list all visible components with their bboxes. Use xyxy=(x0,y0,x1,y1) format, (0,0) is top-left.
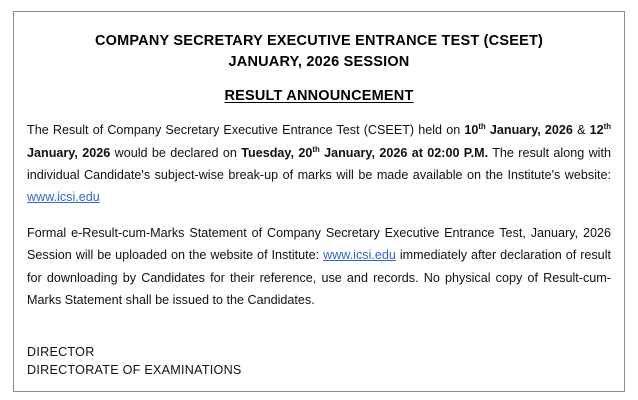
para1-segment-3: would be declared on xyxy=(110,146,241,160)
para1-exam-date-2-rest: January, 2026 xyxy=(27,146,110,160)
para1-declaration-ordinal: th xyxy=(312,144,319,153)
document-title-line-2: JANUARY, 2026 SESSION xyxy=(27,52,611,73)
paragraph-emarks-statement: Formal e-Result-cum-Marks Statement of C… xyxy=(27,222,611,312)
document-body: COMPANY SECRETARY EXECUTIVE ENTRANCE TES… xyxy=(14,12,624,380)
document-title: COMPANY SECRETARY EXECUTIVE ENTRANCE TES… xyxy=(27,31,611,72)
signature-block: DIRECTOR DIRECTORATE OF EXAMINATIONS xyxy=(27,344,611,380)
icsi-website-link-1[interactable]: www.icsi.edu xyxy=(27,190,100,204)
document-title-line-1: COMPANY SECRETARY EXECUTIVE ENTRANCE TES… xyxy=(27,31,611,52)
para1-segment-2: & xyxy=(573,123,590,137)
paragraph-result-declaration: The Result of Company Secretary Executiv… xyxy=(27,119,611,209)
para1-declaration-rest: January, 2026 at 02:00 P.M. xyxy=(320,146,488,160)
para1-declaration-datetime: Tuesday, 20th January, 2026 at 02:00 P.M… xyxy=(241,146,488,160)
para1-exam-date-2-day: 12 xyxy=(590,123,604,137)
icsi-website-link-2[interactable]: www.icsi.edu xyxy=(323,248,396,262)
document-page: COMPANY SECRETARY EXECUTIVE ENTRANCE TES… xyxy=(13,11,625,392)
para1-exam-date-1-ordinal: th xyxy=(478,122,485,131)
para1-exam-date-1: 10th January, 2026 xyxy=(464,123,573,137)
signature-designation: DIRECTOR xyxy=(27,344,611,362)
para1-exam-date-2-ordinal: th xyxy=(604,122,611,131)
para1-exam-date-1-day: 10 xyxy=(464,123,478,137)
para1-segment-1: The Result of Company Secretary Executiv… xyxy=(27,123,464,137)
para1-exam-date-1-rest: January, 2026 xyxy=(486,123,573,137)
result-announcement-heading: RESULT ANNOUNCEMENT xyxy=(27,88,611,104)
para1-declaration-day: Tuesday, 20 xyxy=(241,146,312,160)
result-announcement-heading-text: RESULT ANNOUNCEMENT xyxy=(224,88,413,104)
signature-department: DIRECTORATE OF EXAMINATIONS xyxy=(27,362,611,380)
